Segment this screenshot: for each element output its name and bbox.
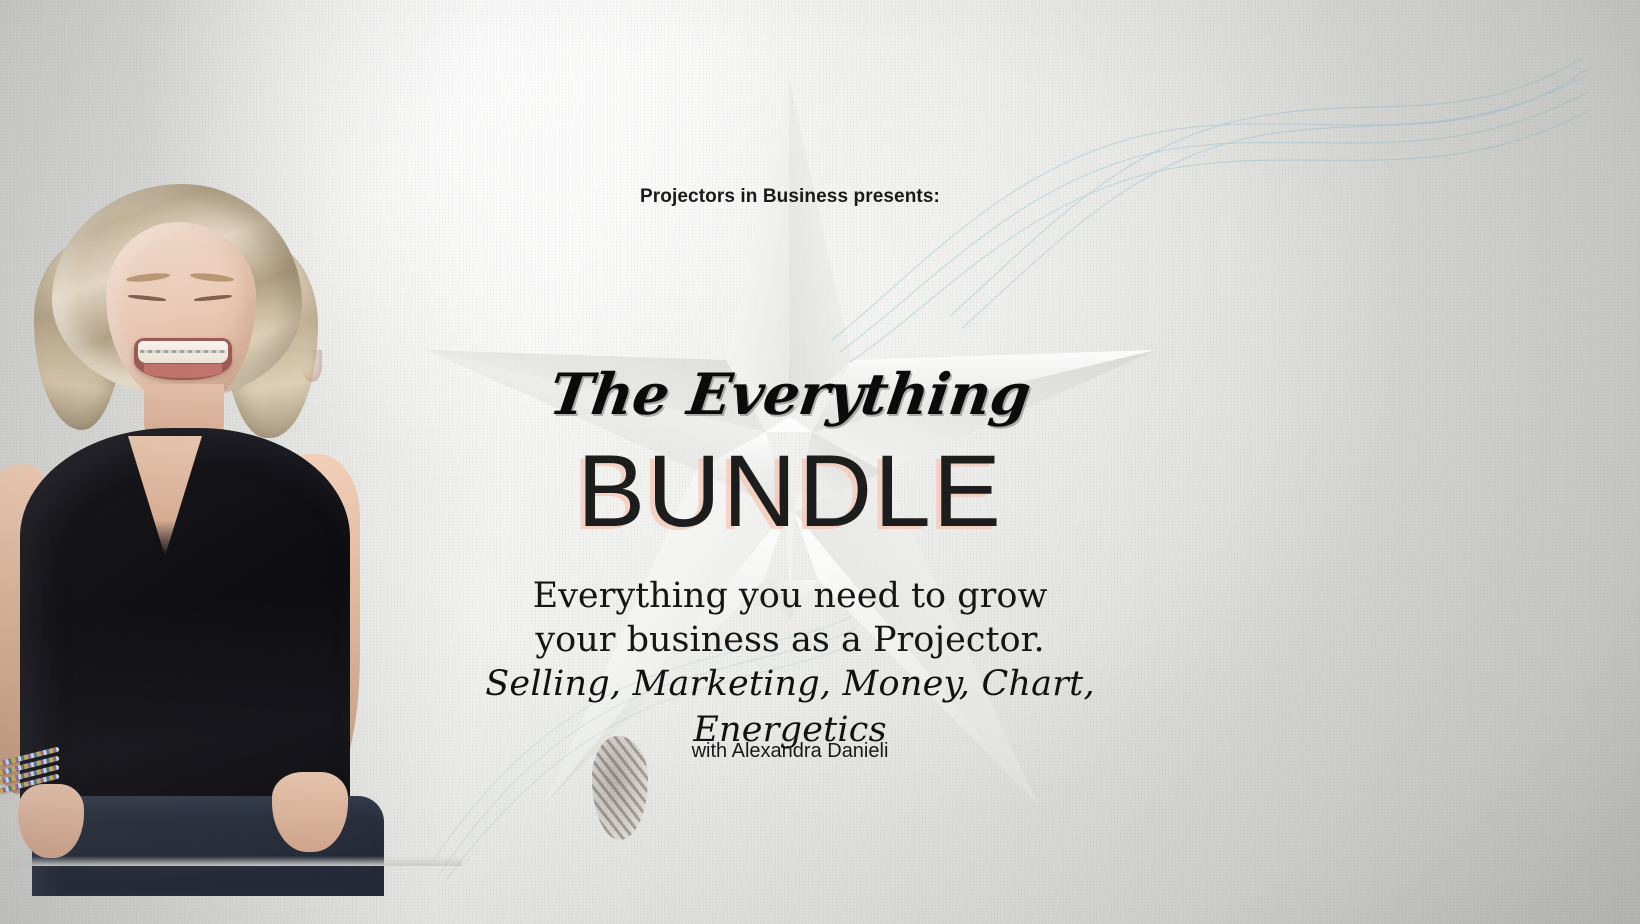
subtitle-line-1: Everything you need to grow <box>392 572 1188 620</box>
promo-banner: Projectors in Business presents: The Eve… <box>0 0 1640 924</box>
headline-block: Projectors in Business presents: The Eve… <box>392 0 1188 924</box>
subtitle-line-2: your business as a Projector. <box>392 616 1188 664</box>
title-script: The Everything <box>388 366 1192 423</box>
title-main: BUNDLE <box>392 440 1188 542</box>
byline: with Alexandra Danieli <box>392 740 1188 763</box>
presenter-line: Projectors in Business presents: <box>392 186 1188 208</box>
